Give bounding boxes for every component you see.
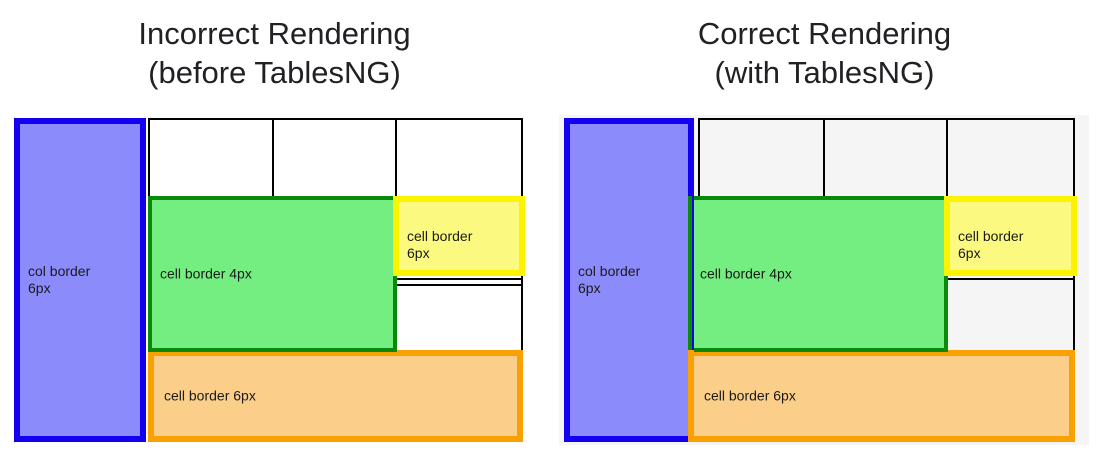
panel-incorrect-rendering: Incorrect Rendering (before TablesNG) ce… <box>0 0 549 457</box>
tablesng-comparison-figure: { "figure": { "title_left": "Incorrect R… <box>0 0 1099 457</box>
table-diagram-correct: cell border 6px cell border 4px cell bor… <box>550 110 1099 457</box>
panel-correct-rendering: Correct Rendering (with TablesNG) cell b… <box>550 0 1099 457</box>
cell-box-green-label: cell border 4px <box>700 266 792 283</box>
cell-box-green: cell border 4px <box>688 196 948 352</box>
cell-box-yellow: cell border 6px <box>944 196 1077 276</box>
cell-box-yellow-label: cell border 6px <box>958 228 1023 262</box>
col-box-blue: col border 6px <box>564 118 694 442</box>
cell-box-orange: cell border 6px <box>688 350 1075 442</box>
body-grid-cell <box>946 278 1075 356</box>
green-cell-left-border <box>688 196 692 352</box>
cell-box-yellow-label: cell border 6px <box>407 228 472 262</box>
col-box-blue-label: col border 6px <box>578 263 640 297</box>
cell-box-orange: cell border 6px <box>148 350 523 442</box>
cell-box-yellow: cell border 6px <box>393 196 525 276</box>
panel-title-incorrect: Incorrect Rendering (before TablesNG) <box>0 14 549 92</box>
panel-title-correct: Correct Rendering (with TablesNG) <box>550 14 1099 92</box>
header-cell <box>272 118 397 206</box>
cell-box-orange-label: cell border 6px <box>164 388 256 405</box>
body-grid-cell <box>395 278 523 356</box>
header-cell <box>946 118 1075 206</box>
header-cell <box>698 118 825 206</box>
header-cell <box>823 118 948 206</box>
col-box-blue: col border 6px <box>14 118 146 442</box>
header-cell <box>395 118 523 206</box>
cell-box-green-label: cell border 4px <box>160 266 252 283</box>
header-cell <box>148 118 274 206</box>
table-diagram-incorrect: cell border 6px cell border 4px cell bor… <box>0 110 549 457</box>
col-box-blue-label: col border 6px <box>28 263 90 297</box>
cell-box-green: cell border 4px <box>148 196 397 352</box>
cell-box-orange-label: cell border 6px <box>704 388 796 405</box>
orange-cell-left-border <box>688 350 694 442</box>
